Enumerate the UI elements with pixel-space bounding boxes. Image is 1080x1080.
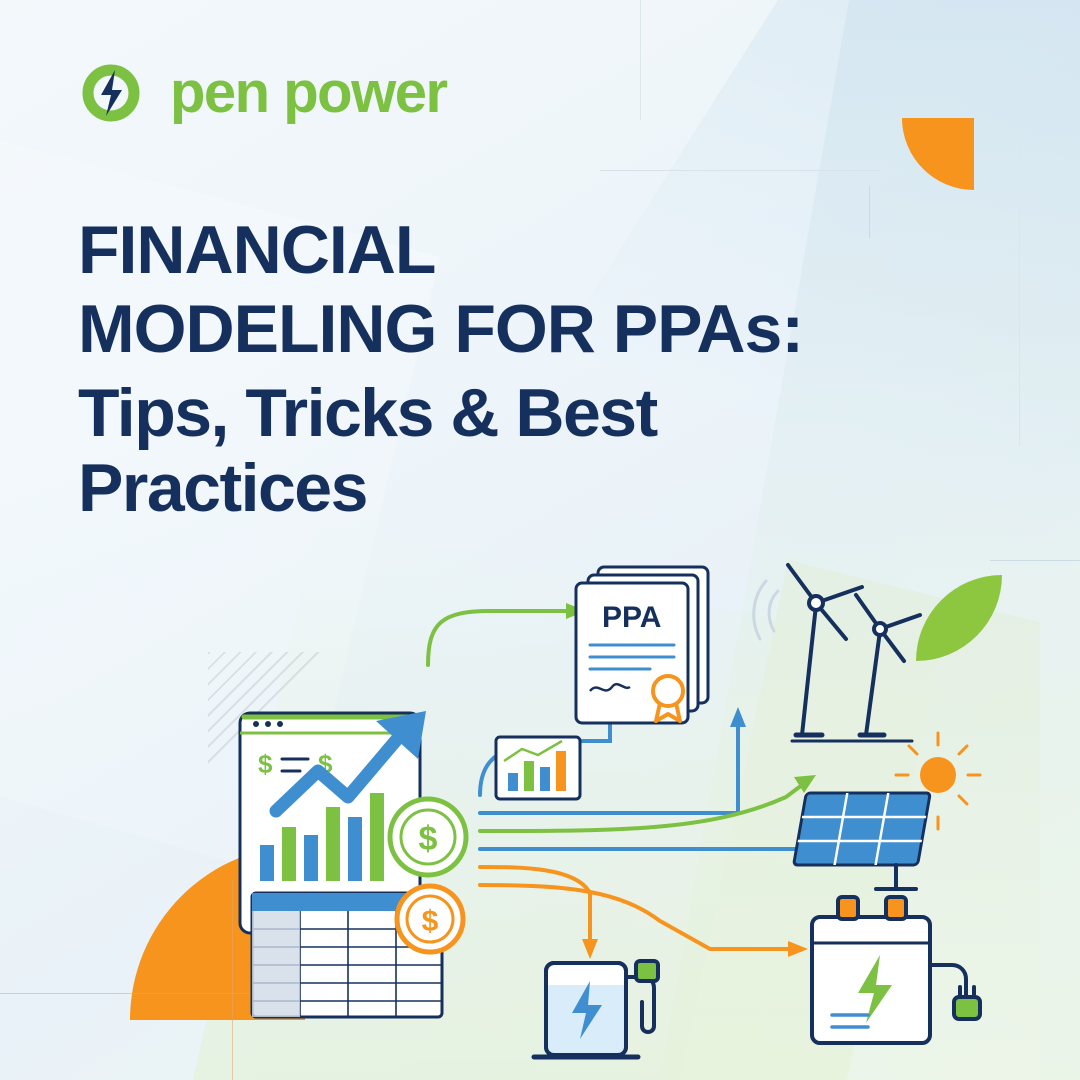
- dollar-coin-orange-icon: $: [397, 886, 463, 952]
- document-label: PPA: [602, 601, 661, 634]
- headline-line-3: Tips, Tricks & Best: [78, 379, 918, 448]
- svg-text:$: $: [258, 749, 273, 779]
- wind-turbines-icon: [754, 565, 920, 741]
- o-with-lightning-bolt-icon: [82, 64, 168, 122]
- ppa-document-stack-icon: PPA: [576, 567, 708, 723]
- headline-line-4: Practices: [78, 454, 918, 523]
- mini-bar-chart-icon: [496, 737, 580, 799]
- ppa-financial-illustration: $ $: [190, 545, 1070, 1065]
- svg-text:$: $: [422, 905, 439, 938]
- brand-logo: pen power: [82, 64, 447, 122]
- decor-line-1: [600, 170, 880, 171]
- decor-line-2: [1019, 146, 1020, 446]
- poster-canvas: pen power FINANCIAL MODELING FOR PPAs: T…: [0, 0, 1080, 1080]
- page-title: FINANCIAL MODELING FOR PPAs: Tips, Trick…: [78, 216, 918, 529]
- ev-charging-station-icon: [534, 961, 658, 1057]
- battery-storage-with-plug-icon: [812, 897, 980, 1043]
- decor-line-7: [640, 0, 641, 120]
- headline-line-1: FINANCIAL: [78, 216, 918, 285]
- svg-text:$: $: [419, 820, 438, 858]
- solar-panel-with-sun-icon: [794, 733, 980, 889]
- headline-line-2: MODELING FOR PPAs:: [78, 295, 918, 364]
- brand-logo-text: pen power: [170, 64, 447, 122]
- dollar-coin-green-icon: $: [390, 799, 466, 875]
